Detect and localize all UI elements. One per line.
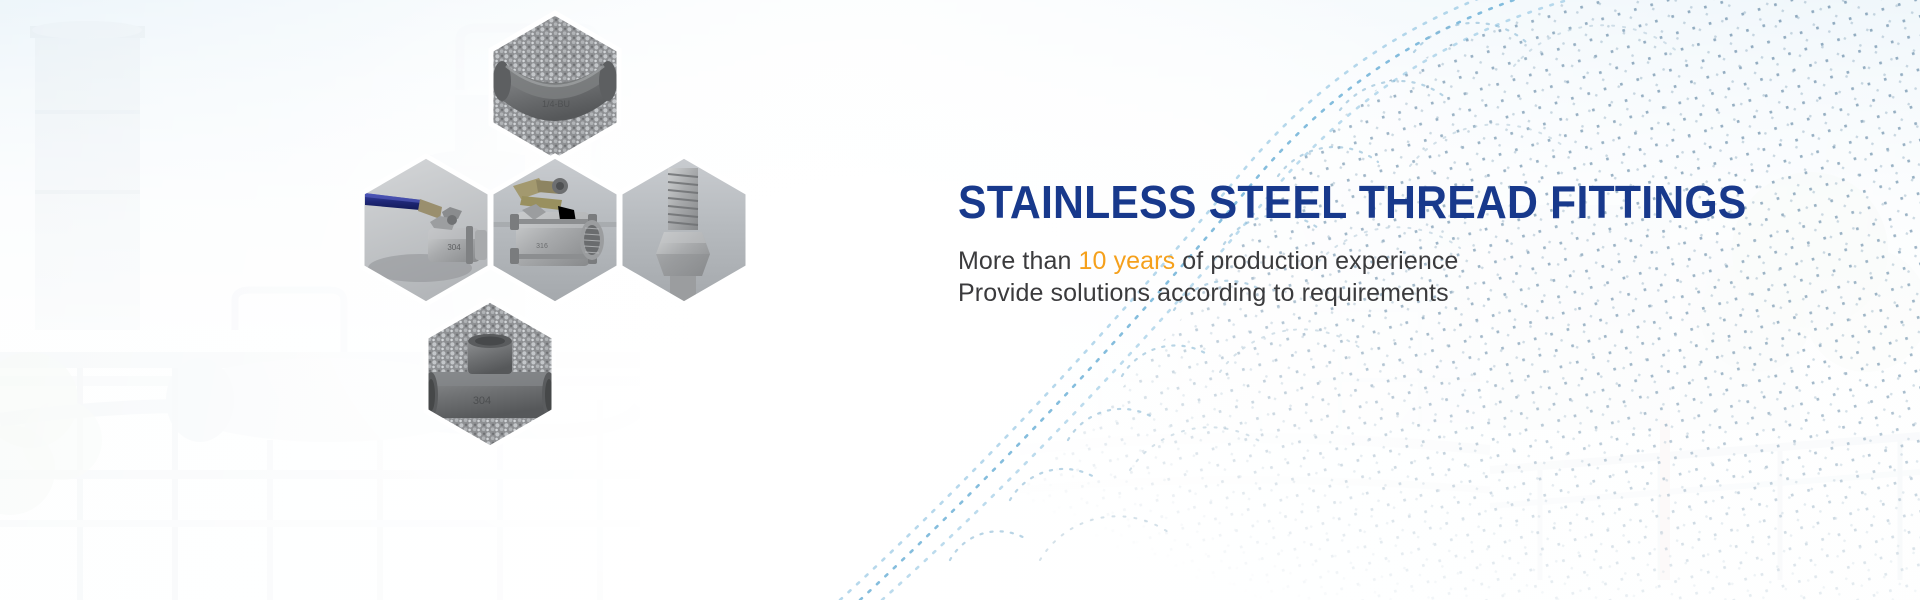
svg-text:316: 316 xyxy=(536,243,548,250)
subtitle-highlight-years: 10 years xyxy=(1079,247,1176,275)
banner-subtitle-line-1: More than 10 years of production experie… xyxy=(958,245,1858,278)
svg-text:1/4-BU: 1/4-BU xyxy=(542,99,570,109)
banner-subtitle-block: More than 10 years of production experie… xyxy=(958,245,1858,310)
svg-text:304: 304 xyxy=(447,243,461,252)
svg-text:304: 304 xyxy=(473,395,491,407)
hex-tile-elbow: 1/4-BU xyxy=(491,13,619,161)
banner-copy-block: STAINLESS STEEL THREAD FITTINGS More tha… xyxy=(958,178,1858,310)
subtitle-text-before: More than xyxy=(958,247,1079,275)
hex-tile-ball-valve: 304 xyxy=(362,156,490,304)
hex-tile-tee: 304 xyxy=(424,300,556,448)
hero-banner: 1/4-BU 304 xyxy=(0,0,1920,600)
subtitle-text-after: of production experience xyxy=(1175,247,1458,275)
banner-headline: STAINLESS STEEL THREAD FITTINGS xyxy=(958,178,1795,227)
hexagon-product-gallery: 1/4-BU 304 xyxy=(270,0,770,500)
hex-tile-hex-nipple xyxy=(620,156,748,304)
banner-subtitle-line-2: Provide solutions according to requireme… xyxy=(958,277,1858,310)
hex-tile-3pc-valve: 316 xyxy=(491,156,619,304)
